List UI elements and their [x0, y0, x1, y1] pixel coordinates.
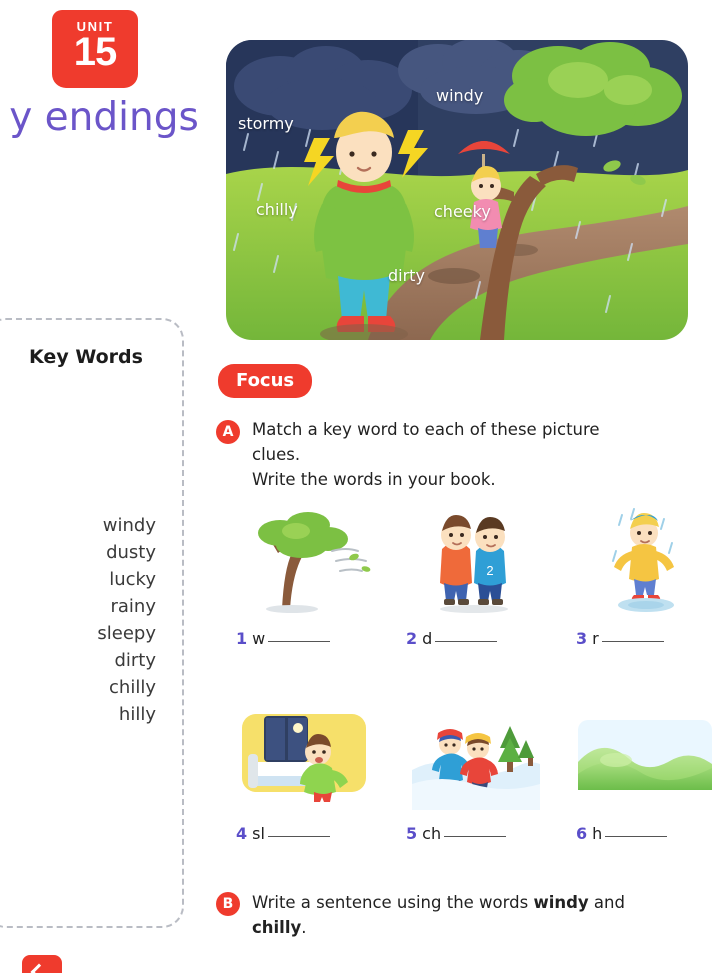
key-word-item: lucky [0, 566, 172, 593]
picture-item-6: 6h [576, 700, 725, 843]
task-a-instruction: Match a key word to each of these pictur… [252, 417, 652, 492]
page-title-text: y endings [9, 95, 199, 140]
page-title: y endings [8, 96, 200, 140]
label-windy: windy [436, 86, 483, 105]
key-word-item: dirty [0, 647, 172, 674]
key-words-panel: Key Words windy dusty lucky rainy sleepy… [0, 318, 184, 928]
picture-row-2: 4sl [236, 700, 706, 895]
previous-page-tab[interactable] [22, 955, 62, 973]
item-prefix: ch [422, 824, 441, 843]
item-number: 1 [236, 629, 247, 648]
picture-row-1: 1w [236, 505, 706, 700]
item-prefix: d [422, 629, 432, 648]
item-prefix: w [252, 629, 265, 648]
write-line[interactable] [444, 836, 506, 837]
chilly-kids-snow-icon [406, 700, 546, 810]
write-line[interactable] [268, 836, 330, 837]
item-number: 2 [406, 629, 417, 648]
answer-line-4: 4sl [236, 824, 386, 843]
rainy-girl-icon [576, 505, 716, 615]
key-word-item: rainy [0, 593, 172, 620]
write-line[interactable] [602, 641, 664, 642]
weather-scene-svg [218, 34, 696, 346]
answer-line-5: 5ch [406, 824, 556, 843]
write-line[interactable] [268, 641, 330, 642]
write-line[interactable] [605, 836, 667, 837]
item-prefix: sl [252, 824, 265, 843]
weather-scene-illustration: stormy windy chilly cheeky dirty [218, 34, 696, 346]
item-prefix: h [592, 824, 602, 843]
item-prefix: r [592, 629, 599, 648]
item-number: 6 [576, 824, 587, 843]
unit-badge: UNIT 15 [52, 10, 138, 88]
answer-line-3: 3r [576, 629, 725, 648]
picture-item-3: 3r [576, 505, 725, 648]
task-b-text-middle: and [589, 893, 625, 912]
key-word-item: hilly [0, 701, 172, 728]
task-a-letter: A [216, 420, 240, 444]
write-line[interactable] [435, 641, 497, 642]
item-number: 4 [236, 824, 247, 843]
answer-line-6: 6h [576, 824, 725, 843]
key-word-item: dusty [0, 539, 172, 566]
label-cheeky: cheeky [434, 202, 491, 221]
task-b-word-2: chilly [252, 918, 301, 937]
key-word-item: windy [0, 512, 172, 539]
picture-item-1: 1w [236, 505, 386, 648]
answer-line-2: 2d [406, 629, 556, 648]
focus-badge: Focus [218, 364, 312, 398]
task-b-word-1: windy [533, 893, 588, 912]
task-b-letter: B [216, 892, 240, 916]
dusty-kids-icon: 2 [406, 505, 546, 615]
label-dirty: dirty [388, 266, 425, 285]
sleepy-boy-bed-icon [236, 700, 376, 810]
picture-item-4: 4sl [236, 700, 386, 843]
picture-clue-grid: 1w [236, 505, 706, 895]
task-b-text-before: Write a sentence using the words [252, 893, 533, 912]
task-b-instruction: Write a sentence using the words windy a… [252, 890, 672, 940]
windy-tree-icon [236, 505, 376, 615]
label-stormy: stormy [238, 114, 294, 133]
key-words-heading: Key Words [0, 346, 186, 368]
key-word-item: sleepy [0, 620, 172, 647]
hilly-landscape-icon [576, 700, 716, 810]
key-word-item: chilly [0, 674, 172, 701]
worksheet-page: UNIT 15 y endings Key Words windy dusty … [0, 0, 725, 973]
key-words-list: windy dusty lucky rainy sleepy dirty chi… [0, 512, 172, 728]
answer-line-1: 1w [236, 629, 386, 648]
item-number: 5 [406, 824, 417, 843]
picture-item-2: 2 2d [406, 505, 556, 648]
label-chilly: chilly [256, 200, 298, 219]
unit-number: 15 [52, 32, 138, 72]
task-b-text-after: . [301, 918, 306, 937]
picture-item-5: 5ch [406, 700, 556, 843]
item-number: 3 [576, 629, 587, 648]
svg-text:2: 2 [486, 563, 493, 578]
